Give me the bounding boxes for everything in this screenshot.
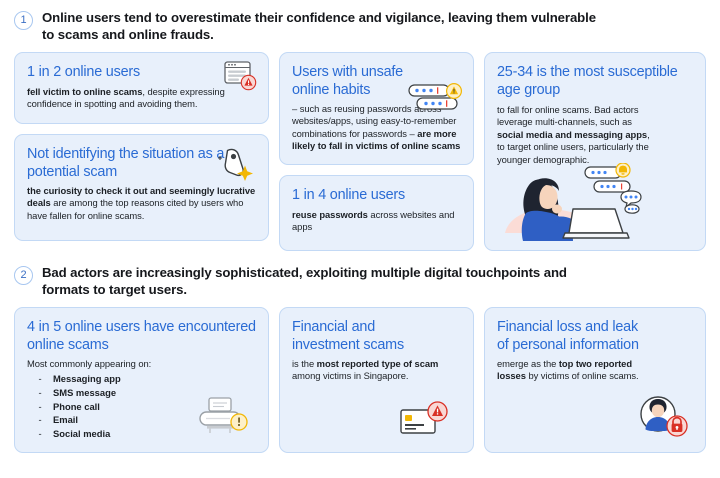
card-title: 1 in 4 online users [292, 187, 461, 205]
card-age-group[interactable]: 25-34 is the most susceptible age group … [484, 52, 706, 251]
section-2-column-1: 4 in 5 online users have encountered onl… [14, 307, 269, 453]
card-title: Financial and investment scams [292, 319, 442, 354]
card-body-emphasis: fell victim to online scams [27, 86, 142, 97]
card-body-text-pre: emerge as the [497, 358, 559, 369]
section-1-title: Online users tend to overestimate their … [42, 9, 602, 43]
credit-card-warning-icon [399, 399, 451, 442]
card-title: Financial loss and leak of personal info… [497, 319, 647, 354]
card-body: Most commonly appearing on: [27, 358, 256, 370]
card-body: emerge as the top two reported losses by… [497, 358, 652, 383]
card-body: is the most reported type of scam among … [292, 358, 461, 383]
card-financial-loss[interactable]: Financial loss and leak of personal info… [484, 307, 706, 453]
section-1-column-1: 1 in 2 online users fell victim to onlin… [14, 52, 269, 251]
browser-warning-icon [224, 61, 258, 96]
card-body-text: by victims of online scams. [526, 370, 639, 381]
section-2-column-3: Financial loss and leak of personal info… [484, 307, 706, 453]
card-body: the curiosity to check it out and seemin… [27, 185, 256, 222]
card-title: 1 in 2 online users [27, 64, 212, 82]
bullet-marker: - [27, 386, 53, 400]
card-title: Users with unsafe online habits [292, 64, 422, 99]
bullet-marker: - [27, 427, 53, 441]
avatar-lock-icon [639, 395, 691, 444]
card-title: 25-34 is the most susceptible age group [497, 64, 693, 99]
fax-warning-icon [196, 395, 250, 444]
infographic-page: 1 Online users tend to overestimate thei… [0, 0, 720, 478]
section-2-card-row: 4 in 5 online users have encountered onl… [0, 307, 720, 453]
card-not-identifying[interactable]: Not identifying the situation as a poten… [14, 134, 269, 241]
card-body-emphasis: social media and messaging apps [497, 129, 647, 140]
list-item-label: SMS message [53, 386, 116, 400]
list-item: - Messaging app [27, 372, 256, 386]
list-item-label: Email [53, 413, 78, 427]
section-2: 2 Bad actors are increasingly sophistica… [0, 251, 720, 453]
bullet-marker: - [27, 372, 53, 386]
card-one-in-four[interactable]: 1 in 4 online users reuse passwords acro… [279, 175, 474, 251]
person-laptop-illustration [499, 163, 684, 246]
tag-sparkle-icon [218, 147, 256, 186]
card-body-text-pre: is the [292, 358, 317, 369]
bullet-marker: - [27, 413, 53, 427]
section-1-column-3: 25-34 is the most susceptible age group … [484, 52, 706, 251]
card-body-emphasis: most reported type of scam [317, 358, 439, 369]
section-1-column-2: Users with unsafe online habits – such a… [279, 52, 474, 251]
card-body-text: among victims in Singapore. [292, 370, 408, 381]
card-body-text-pre: to fall for online scams. Bad actors lev… [497, 104, 639, 127]
list-item-label: Phone call [53, 400, 100, 414]
section-2-heading: 2 Bad actors are increasingly sophistica… [0, 264, 720, 298]
card-unsafe-habits[interactable]: Users with unsafe online habits – such a… [279, 52, 474, 165]
card-title: Not identifying the situation as a poten… [27, 146, 232, 181]
section-1: 1 Online users tend to overestimate thei… [0, 0, 720, 251]
section-1-card-row: 1 in 2 online users fell victim to onlin… [0, 52, 720, 251]
section-2-title: Bad actors are increasingly sophisticate… [42, 264, 602, 298]
card-title: 4 in 5 online users have encountered onl… [27, 319, 256, 354]
section-number-badge: 1 [14, 11, 33, 30]
bullet-marker: - [27, 400, 53, 414]
card-body: reuse passwords across websites and apps [292, 209, 461, 234]
card-four-in-five[interactable]: 4 in 5 online users have encountered onl… [14, 307, 269, 453]
section-1-heading: 1 Online users tend to overestimate thei… [0, 9, 720, 43]
list-item-label: Messaging app [53, 372, 121, 386]
card-one-in-two[interactable]: 1 in 2 online users fell victim to onlin… [14, 52, 269, 124]
password-warning-icon [407, 83, 465, 124]
card-body: to fall for online scams. Bad actors lev… [497, 104, 657, 166]
card-financial-investment[interactable]: Financial and investment scams is the mo… [279, 307, 474, 453]
section-number-badge: 2 [14, 266, 33, 285]
card-body: fell victim to online scams, despite exp… [27, 86, 256, 111]
section-2-column-2: Financial and investment scams is the mo… [279, 307, 474, 453]
card-body-text: are among the top reasons cited by users… [27, 197, 243, 220]
card-body-emphasis: reuse passwords [292, 209, 368, 220]
list-item-label: Social media [53, 427, 110, 441]
